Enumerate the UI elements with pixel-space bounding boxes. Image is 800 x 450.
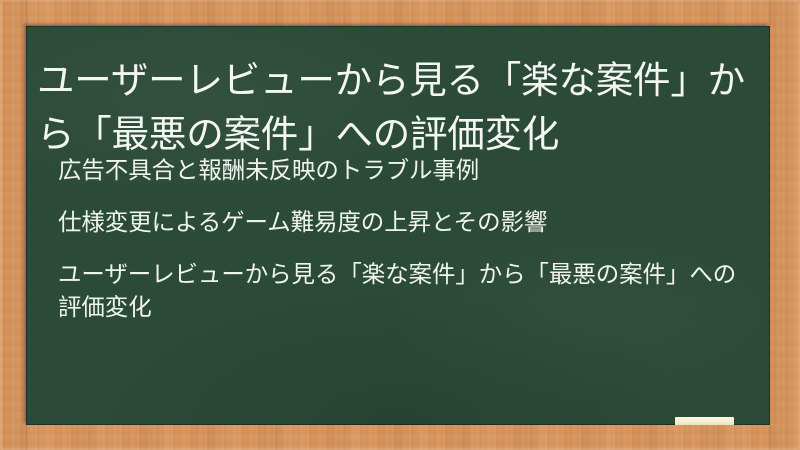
frame-miter-seam-bottom-left [26, 425, 27, 450]
chalk-stick-icon [675, 417, 734, 425]
list-item: ユーザーレビューから見る「楽な案件」から「最悪の案件」への評価変化 [58, 258, 758, 324]
frame-miter-seam-top-right [770, 0, 771, 26]
chalkboard-slide: ユーザーレビューから見る「楽な案件」から「最悪の案件」への評価変化 広告不具合と… [0, 0, 800, 450]
frame-miter-seam-bottom-right [770, 425, 771, 450]
agenda-list: 広告不具合と報酬未反映のトラブル事例 仕様変更によるゲーム難易度の上昇とその影響… [58, 154, 758, 324]
chalkboard-surface: ユーザーレビューから見る「楽な案件」から「最悪の案件」への評価変化 広告不具合と… [26, 26, 770, 425]
list-item: 広告不具合と報酬未反映のトラブル事例 [58, 154, 758, 187]
frame-miter-seam-top-left [26, 0, 27, 26]
slide-title: ユーザーレビューから見る「楽な案件」から「最悪の案件」への評価変化 [37, 53, 759, 161]
list-item: 仕様変更によるゲーム難易度の上昇とその影響 [58, 206, 758, 239]
